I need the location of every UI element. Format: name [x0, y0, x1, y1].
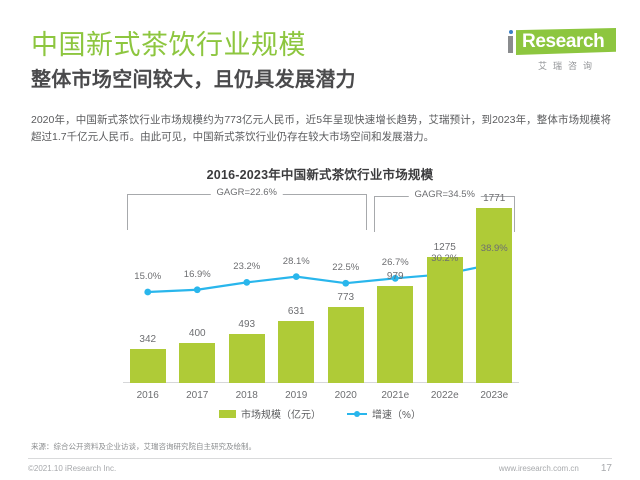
- legend-line-swatch-icon: [347, 410, 367, 418]
- x-axis-label: 2021e: [381, 390, 409, 401]
- chart-legend: 市场规模（亿元） 增速（%）: [0, 406, 640, 421]
- growth-rate-label: 22.5%: [332, 262, 359, 273]
- page-subtitle: 整体市场空间较大，且仍具发展潜力: [31, 67, 356, 93]
- bar-value-label: 979: [387, 271, 404, 282]
- growth-line-series: [0, 186, 640, 401]
- chart-title: 2016-2023年中国新式茶饮行业市场规模: [0, 164, 640, 183]
- bar-value-label: 400: [189, 328, 206, 339]
- chart-plot-area: 342201615.0%400201716.9%493201823.2%6312…: [0, 186, 640, 401]
- footer-url: www.iresearch.com.cn: [499, 464, 579, 473]
- chart-figure: GAGR=22.6%GAGR=34.5% 342201615.0%4002017…: [0, 186, 640, 401]
- logo-wordmark: Research: [522, 31, 604, 52]
- legend-label-market-size: 市场规模（亿元）: [241, 406, 321, 421]
- bar-value-label: 1275: [434, 242, 456, 253]
- growth-rate-label: 26.7%: [382, 257, 409, 268]
- growth-line-marker: [144, 289, 151, 296]
- x-axis-label: 2023e: [480, 390, 508, 401]
- bar-value-label: 773: [337, 292, 354, 303]
- chart-bar: [130, 349, 166, 383]
- x-axis-label: 2020: [335, 390, 357, 401]
- growth-line-marker: [243, 279, 250, 286]
- growth-line-marker: [194, 286, 201, 293]
- lead-paragraph: 2020年，中国新式茶饮行业市场规模约为773亿元人民币，近5年呈现快速增长趋势…: [31, 112, 611, 146]
- x-axis-label: 2018: [236, 390, 258, 401]
- source-note: 来源：综合公开资料及企业访谈，艾瑞咨询研究院自主研究及绘制。: [31, 441, 256, 452]
- chart-bar: [179, 343, 215, 383]
- logo-i-dot-icon: [509, 30, 513, 34]
- copyright-text: ©2021.10 iResearch Inc.: [28, 464, 116, 473]
- logo-chinese-name: 艾瑞咨询: [520, 59, 616, 72]
- growth-rate-label: 30.2%: [431, 253, 458, 264]
- x-axis-label: 2019: [285, 390, 307, 401]
- x-axis-label: 2022e: [431, 390, 459, 401]
- page-footer: ©2021.10 iResearch Inc. www.iresearch.co…: [28, 463, 612, 474]
- bar-value-label: 342: [139, 334, 156, 345]
- legend-item-growth-rate: 增速（%）: [347, 406, 421, 421]
- chart-bar: [427, 257, 463, 383]
- bar-value-label: 493: [238, 319, 255, 330]
- chart-bar: [377, 286, 413, 383]
- chart-bar: [278, 321, 314, 383]
- bar-value-label: 631: [288, 306, 305, 317]
- growth-rate-label: 15.0%: [134, 271, 161, 282]
- legend-label-growth-rate: 增速（%）: [372, 406, 421, 421]
- page-number: 17: [601, 463, 612, 474]
- chart-bar: [328, 307, 364, 383]
- page-header: 中国新式茶饮行业规模 整体市场空间较大，且仍具发展潜力 Research 艾瑞咨…: [0, 0, 640, 100]
- x-axis-label: 2017: [186, 390, 208, 401]
- iresearch-logo: Research 艾瑞咨询: [504, 28, 616, 76]
- page-title: 中国新式茶饮行业规模: [31, 29, 306, 61]
- logo-i-stem-icon: [508, 36, 513, 53]
- growth-rate-label: 28.1%: [283, 256, 310, 267]
- growth-rate-label: 38.9%: [481, 243, 508, 254]
- growth-line-marker: [293, 273, 300, 280]
- chart-bar: [476, 208, 512, 383]
- legend-bar-swatch-icon: [219, 410, 236, 418]
- legend-item-market-size: 市场规模（亿元）: [219, 406, 321, 421]
- growth-line-marker: [342, 280, 349, 287]
- chart-bar: [229, 334, 265, 383]
- growth-rate-label: 16.9%: [184, 269, 211, 280]
- growth-rate-label: 23.2%: [233, 261, 260, 272]
- bar-value-label: 1771: [483, 193, 505, 204]
- logo-mark: Research: [504, 28, 616, 58]
- footer-divider: [28, 458, 612, 459]
- x-axis-label: 2016: [137, 390, 159, 401]
